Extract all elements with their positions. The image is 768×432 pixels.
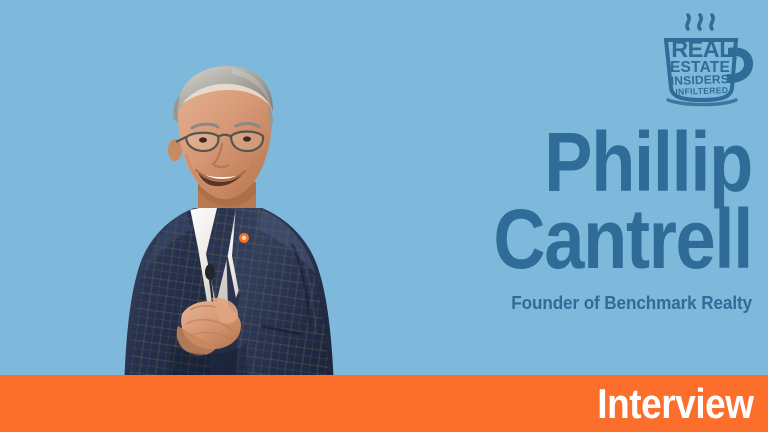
guest-name-block: Phillip Cantrell Founder of Benchmark Re… bbox=[232, 124, 752, 314]
thumbnail-canvas: REAL ESTATE INSIDERS UNFILTERED Phillip … bbox=[0, 0, 768, 432]
logo-line-unfiltered: UNFILTERED bbox=[671, 85, 728, 97]
guest-title: Founder of Benchmark Realty bbox=[258, 293, 752, 314]
guest-first-name: Phillip bbox=[305, 124, 752, 201]
steam-icon bbox=[687, 15, 713, 29]
episode-type-label: Interview bbox=[598, 383, 754, 425]
bottom-bar: Interview bbox=[0, 375, 768, 432]
guest-last-name: Cantrell bbox=[305, 201, 752, 278]
real-estate-insiders-unfiltered-logo[interactable]: REAL ESTATE INSIDERS UNFILTERED bbox=[644, 4, 760, 108]
